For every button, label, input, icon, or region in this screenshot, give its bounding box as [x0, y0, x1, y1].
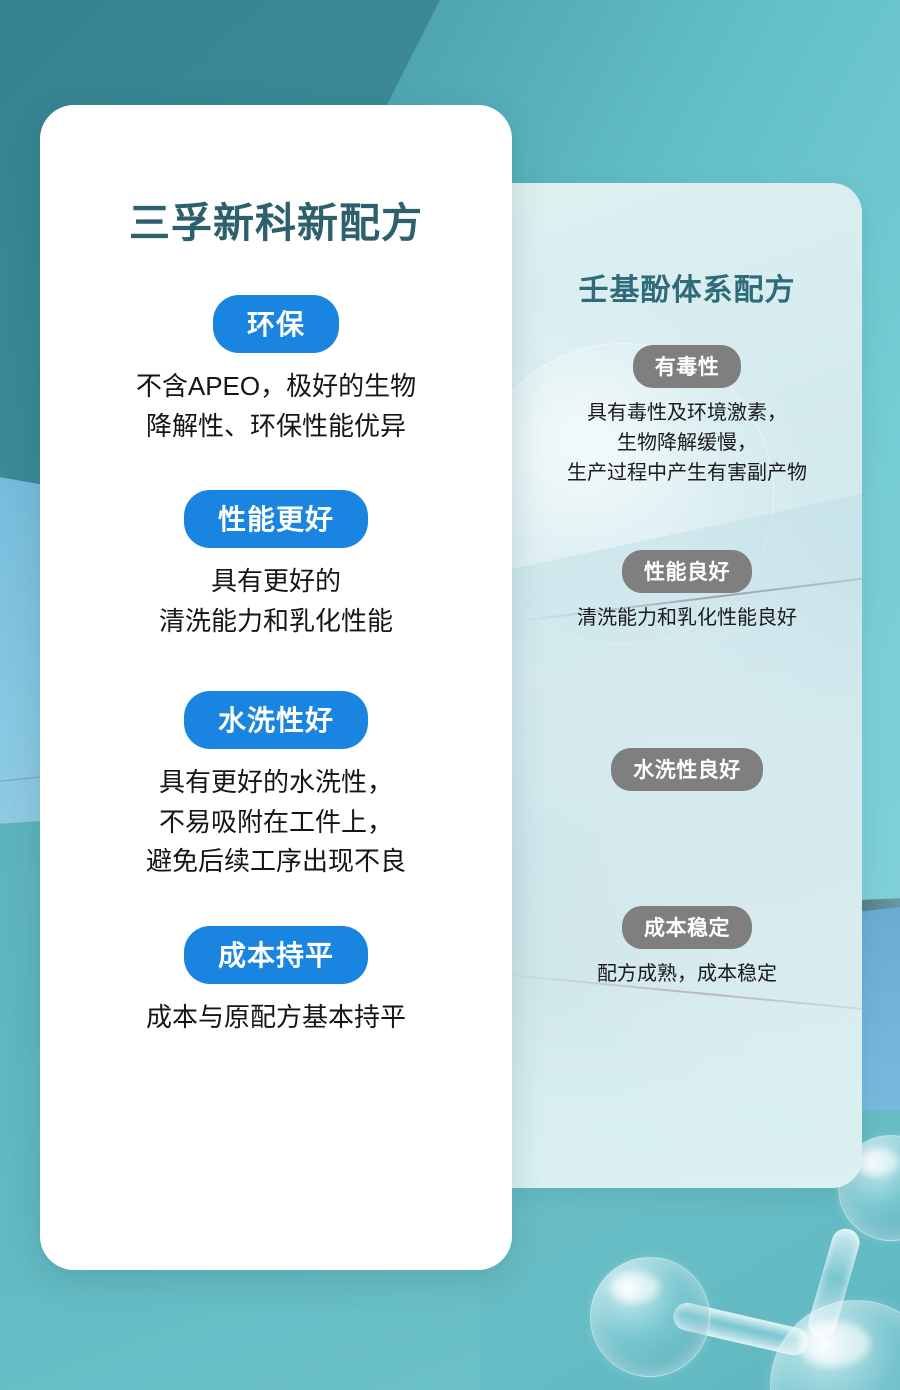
panel-badge-performance[interactable]: 性能良好: [622, 550, 752, 593]
panel-item-cost: 成本稳定 配方成熟，成本稳定: [512, 906, 862, 989]
card-desc-performance: 具有更好的 清洗能力和乳化性能: [40, 562, 512, 641]
panel-item-performance: 性能良好 清洗能力和乳化性能良好: [512, 550, 862, 633]
panel-badge-toxicity[interactable]: 有毒性: [633, 345, 742, 388]
panel-desc-performance: 清洗能力和乳化性能良好: [512, 603, 862, 633]
card-badge-cost[interactable]: 成本持平: [184, 926, 368, 984]
feature-card-new-formula: 三孚新科新配方 环保 不含APEO，极好的生物 降解性、环保性能优异 性能更好 …: [40, 105, 512, 1270]
comparison-panel-nonylphenol: 壬基酚体系配方 有毒性 具有毒性及环境激素， 生物降解缓慢， 生产过程中产生有害…: [512, 183, 862, 1188]
card-badge-eco[interactable]: 环保: [213, 295, 339, 353]
card-item-eco: 环保 不含APEO，极好的生物 降解性、环保性能优异: [40, 295, 512, 446]
card-title: 三孚新科新配方: [40, 189, 512, 249]
card-badge-washability[interactable]: 水洗性好: [184, 691, 368, 749]
panel-badge-cost[interactable]: 成本稳定: [622, 906, 752, 949]
card-item-cost: 成本持平 成本与原配方基本持平: [40, 926, 512, 1038]
card-item-washability: 水洗性好 具有更好的水洗性， 不易吸附在工件上， 避免后续工序出现不良: [40, 691, 512, 882]
panel-desc-toxicity: 具有毒性及环境激素， 生物降解缓慢， 生产过程中产生有害副产物: [512, 398, 862, 488]
panel-desc-cost: 配方成熟，成本稳定: [512, 959, 862, 989]
panel-item-toxicity: 有毒性 具有毒性及环境激素， 生物降解缓慢， 生产过程中产生有害副产物: [512, 345, 862, 488]
card-desc-washability: 具有更好的水洗性， 不易吸附在工件上， 避免后续工序出现不良: [40, 763, 512, 882]
card-item-performance: 性能更好 具有更好的 清洗能力和乳化性能: [40, 490, 512, 641]
card-desc-eco: 不含APEO，极好的生物 降解性、环保性能优异: [40, 367, 512, 446]
panel-badge-washability[interactable]: 水洗性良好: [611, 748, 763, 791]
panel-item-washability: 水洗性良好: [512, 748, 862, 791]
card-desc-cost: 成本与原配方基本持平: [40, 998, 512, 1038]
panel-title: 壬基酚体系配方: [512, 265, 862, 309]
card-badge-performance[interactable]: 性能更好: [184, 490, 368, 548]
